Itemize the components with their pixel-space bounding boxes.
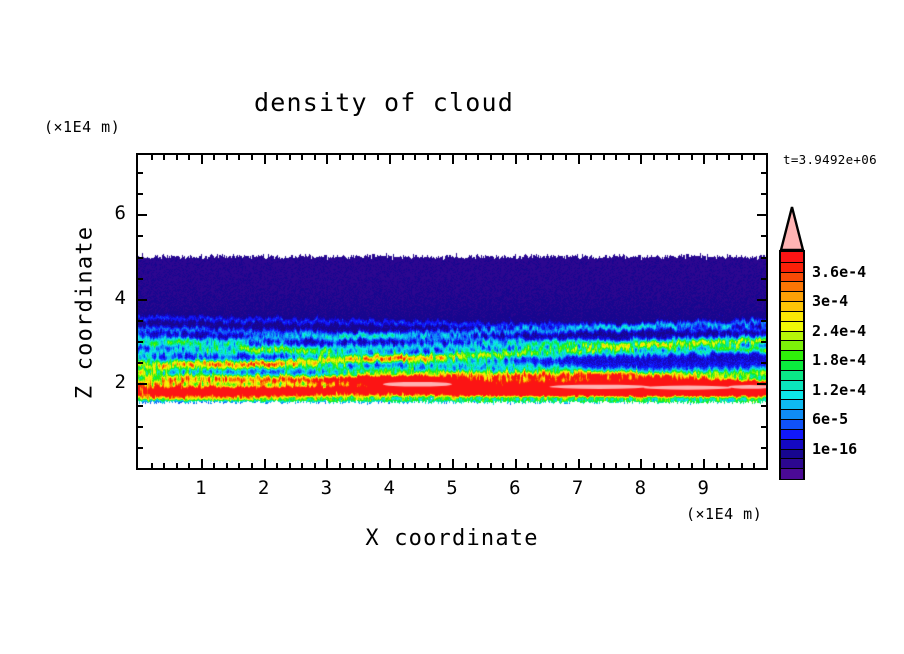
x-minor-tick [590, 463, 592, 468]
x-minor-tick-top [753, 155, 755, 160]
x-major-tick [452, 459, 454, 468]
x-major-tick [578, 459, 580, 468]
y-axis-units-label: (×1E4 m) [44, 118, 120, 136]
x-minor-tick [552, 463, 554, 468]
x-minor-tick-top [540, 155, 542, 160]
x-minor-tick [238, 463, 240, 468]
x-minor-tick [427, 463, 429, 468]
page-title: density of cloud [0, 88, 768, 117]
x-axis-units-label: (×1E4 m) [686, 505, 762, 523]
y-minor-tick-right [761, 257, 766, 259]
y-minor-tick [138, 235, 143, 237]
y-minor-tick-right [761, 447, 766, 449]
x-minor-tick [226, 463, 228, 468]
x-major-tick-top [389, 155, 391, 164]
colorbar-bands [779, 250, 805, 480]
x-tick-label: 3 [306, 477, 346, 499]
x-minor-tick-top [490, 155, 492, 160]
x-minor-tick [603, 463, 605, 468]
y-minor-tick [138, 447, 143, 449]
y-minor-tick-right [761, 362, 766, 364]
x-minor-tick [176, 463, 178, 468]
x-minor-tick-top [151, 155, 153, 160]
x-minor-tick [716, 463, 718, 468]
y-minor-tick [138, 320, 143, 322]
x-tick-label: 9 [683, 477, 723, 499]
x-major-tick-top [640, 155, 642, 164]
x-tick-label: 7 [558, 477, 598, 499]
x-major-tick [326, 459, 328, 468]
x-minor-tick-top [502, 155, 504, 160]
x-minor-tick [565, 463, 567, 468]
y-major-tick-right [757, 383, 766, 385]
x-minor-tick-top [163, 155, 165, 160]
x-minor-tick [213, 463, 215, 468]
y-minor-tick-right [761, 341, 766, 343]
x-minor-tick-top [565, 155, 567, 160]
x-minor-tick-top [314, 155, 316, 160]
y-minor-tick [138, 426, 143, 428]
x-major-tick-top [326, 155, 328, 164]
plot-area [136, 153, 768, 470]
x-minor-tick [653, 463, 655, 468]
contour-field [138, 155, 766, 468]
colorbar-overflow-arrow-icon [779, 206, 805, 251]
x-minor-tick-top [653, 155, 655, 160]
x-major-tick-top [515, 155, 517, 164]
x-minor-tick [753, 463, 755, 468]
x-minor-tick [728, 463, 730, 468]
time-annotation: t=3.9492e+06 [783, 152, 877, 167]
x-minor-tick [678, 463, 680, 468]
y-minor-tick-right [761, 320, 766, 322]
colorbar-label: 3e-4 [812, 292, 848, 310]
x-minor-tick [251, 463, 253, 468]
x-tick-label: 4 [369, 477, 409, 499]
figure-canvas: density of cloud (×1E4 m) t=3.9492e+06 1… [0, 0, 904, 654]
x-minor-tick-top [603, 155, 605, 160]
x-minor-tick [414, 463, 416, 468]
x-minor-tick-top [552, 155, 554, 160]
y-major-tick [138, 299, 147, 301]
x-minor-tick-top [414, 155, 416, 160]
x-minor-tick-top [427, 155, 429, 160]
x-minor-tick [314, 463, 316, 468]
x-minor-tick-top [439, 155, 441, 160]
x-tick-label: 1 [181, 477, 221, 499]
x-minor-tick-top [339, 155, 341, 160]
y-minor-tick [138, 257, 143, 259]
x-minor-tick [540, 463, 542, 468]
x-minor-tick-top [352, 155, 354, 160]
x-minor-tick-top [615, 155, 617, 160]
x-minor-tick-top [728, 155, 730, 160]
x-minor-tick-top [301, 155, 303, 160]
x-minor-tick-top [276, 155, 278, 160]
x-minor-tick [502, 463, 504, 468]
x-minor-tick [439, 463, 441, 468]
y-minor-tick-right [761, 278, 766, 280]
y-major-tick [138, 214, 147, 216]
y-minor-tick [138, 193, 143, 195]
x-minor-tick-top [364, 155, 366, 160]
x-minor-tick-top [402, 155, 404, 160]
colorbar-label: 1e-16 [812, 440, 857, 458]
x-minor-tick-top [666, 155, 668, 160]
x-minor-tick [151, 463, 153, 468]
y-minor-tick-right [761, 405, 766, 407]
x-minor-tick [352, 463, 354, 468]
x-minor-tick [741, 463, 743, 468]
y-minor-tick [138, 405, 143, 407]
y-minor-tick [138, 172, 143, 174]
colorbar-label: 1.8e-4 [812, 351, 866, 369]
x-tick-label: 8 [620, 477, 660, 499]
x-minor-tick-top [628, 155, 630, 160]
x-minor-tick [377, 463, 379, 468]
x-minor-tick [477, 463, 479, 468]
x-minor-tick [301, 463, 303, 468]
x-major-tick-top [264, 155, 266, 164]
x-minor-tick-top [465, 155, 467, 160]
x-tick-label: 6 [495, 477, 535, 499]
x-major-tick-top [578, 155, 580, 164]
x-minor-tick-top [251, 155, 253, 160]
x-major-tick [389, 459, 391, 468]
y-major-tick [138, 383, 147, 385]
x-minor-tick [628, 463, 630, 468]
x-minor-tick [615, 463, 617, 468]
y-minor-tick [138, 362, 143, 364]
x-minor-tick [402, 463, 404, 468]
x-minor-tick-top [527, 155, 529, 160]
x-minor-tick-top [226, 155, 228, 160]
x-axis-label: X coordinate [136, 526, 768, 551]
colorbar-label: 3.6e-4 [812, 263, 866, 281]
x-minor-tick-top [188, 155, 190, 160]
x-minor-tick [289, 463, 291, 468]
x-major-tick [703, 459, 705, 468]
x-minor-tick-top [741, 155, 743, 160]
x-minor-tick [465, 463, 467, 468]
x-minor-tick-top [377, 155, 379, 160]
y-major-tick-right [757, 299, 766, 301]
x-minor-tick-top [238, 155, 240, 160]
colorbar-label: 2.4e-4 [812, 322, 866, 340]
y-minor-tick-right [761, 193, 766, 195]
x-minor-tick [188, 463, 190, 468]
y-minor-tick [138, 278, 143, 280]
colorbar-band [781, 468, 803, 478]
x-major-tick-top [452, 155, 454, 164]
y-minor-tick-right [761, 426, 766, 428]
x-major-tick-top [201, 155, 203, 164]
y-axis-label: Z coordinate [73, 223, 98, 403]
x-minor-tick [276, 463, 278, 468]
x-minor-tick [691, 463, 693, 468]
x-major-tick [640, 459, 642, 468]
x-minor-tick [666, 463, 668, 468]
y-major-tick-right [757, 214, 766, 216]
x-minor-tick [163, 463, 165, 468]
x-minor-tick-top [716, 155, 718, 160]
y-minor-tick [138, 341, 143, 343]
y-tick-label: 6 [92, 202, 126, 224]
x-minor-tick [527, 463, 529, 468]
x-minor-tick-top [691, 155, 693, 160]
y-minor-tick-right [761, 235, 766, 237]
x-minor-tick-top [176, 155, 178, 160]
x-minor-tick-top [590, 155, 592, 160]
y-minor-tick-right [761, 172, 766, 174]
colorbar-label: 6e-5 [812, 410, 848, 428]
x-minor-tick-top [477, 155, 479, 160]
x-minor-tick [490, 463, 492, 468]
x-major-tick-top [703, 155, 705, 164]
x-minor-tick [364, 463, 366, 468]
x-tick-label: 5 [432, 477, 472, 499]
x-minor-tick-top [678, 155, 680, 160]
x-minor-tick-top [289, 155, 291, 160]
x-major-tick [201, 459, 203, 468]
x-major-tick [264, 459, 266, 468]
colorbar-label: 1.2e-4 [812, 381, 866, 399]
x-tick-label: 2 [244, 477, 284, 499]
x-minor-tick [339, 463, 341, 468]
x-major-tick [515, 459, 517, 468]
x-minor-tick-top [213, 155, 215, 160]
